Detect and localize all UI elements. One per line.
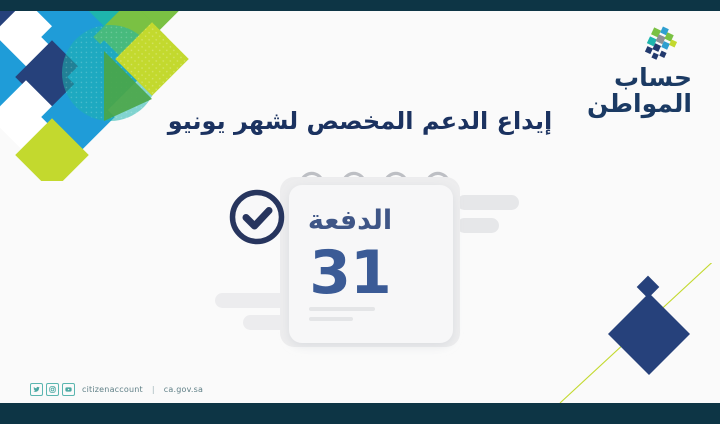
calendar-illustration: الدفعة 31	[205, 155, 535, 370]
decorative-diamond-mosaic	[0, 11, 210, 181]
top-letterbox-bar	[0, 0, 720, 11]
right-motion-lines	[451, 190, 519, 258]
footer: citizenaccount | ca.gov.sa	[30, 383, 203, 396]
twitter-icon[interactable]	[30, 383, 43, 396]
logo-word-line1: حساب	[587, 65, 692, 91]
footer-handle[interactable]: citizenaccount	[82, 385, 143, 394]
instagram-icon[interactable]	[46, 383, 59, 396]
check-circle-badge	[231, 191, 283, 243]
social-icons	[30, 383, 75, 396]
bottom-letterbox-bar	[0, 403, 720, 424]
announcement-banner: حساب المواطن إيداع الدعم المخصص لشهر يون…	[0, 0, 720, 424]
footer-separator: |	[150, 385, 157, 394]
headline-title: إيداع الدعم المخصص لشهر يونيو	[0, 107, 720, 135]
footer-website[interactable]: ca.gov.sa	[164, 385, 203, 394]
diamond-grid-logo-mark	[636, 26, 690, 64]
bottom-right-decoration	[550, 263, 720, 403]
youtube-icon[interactable]	[62, 383, 75, 396]
brand-logo[interactable]: حساب المواطن	[587, 26, 692, 116]
